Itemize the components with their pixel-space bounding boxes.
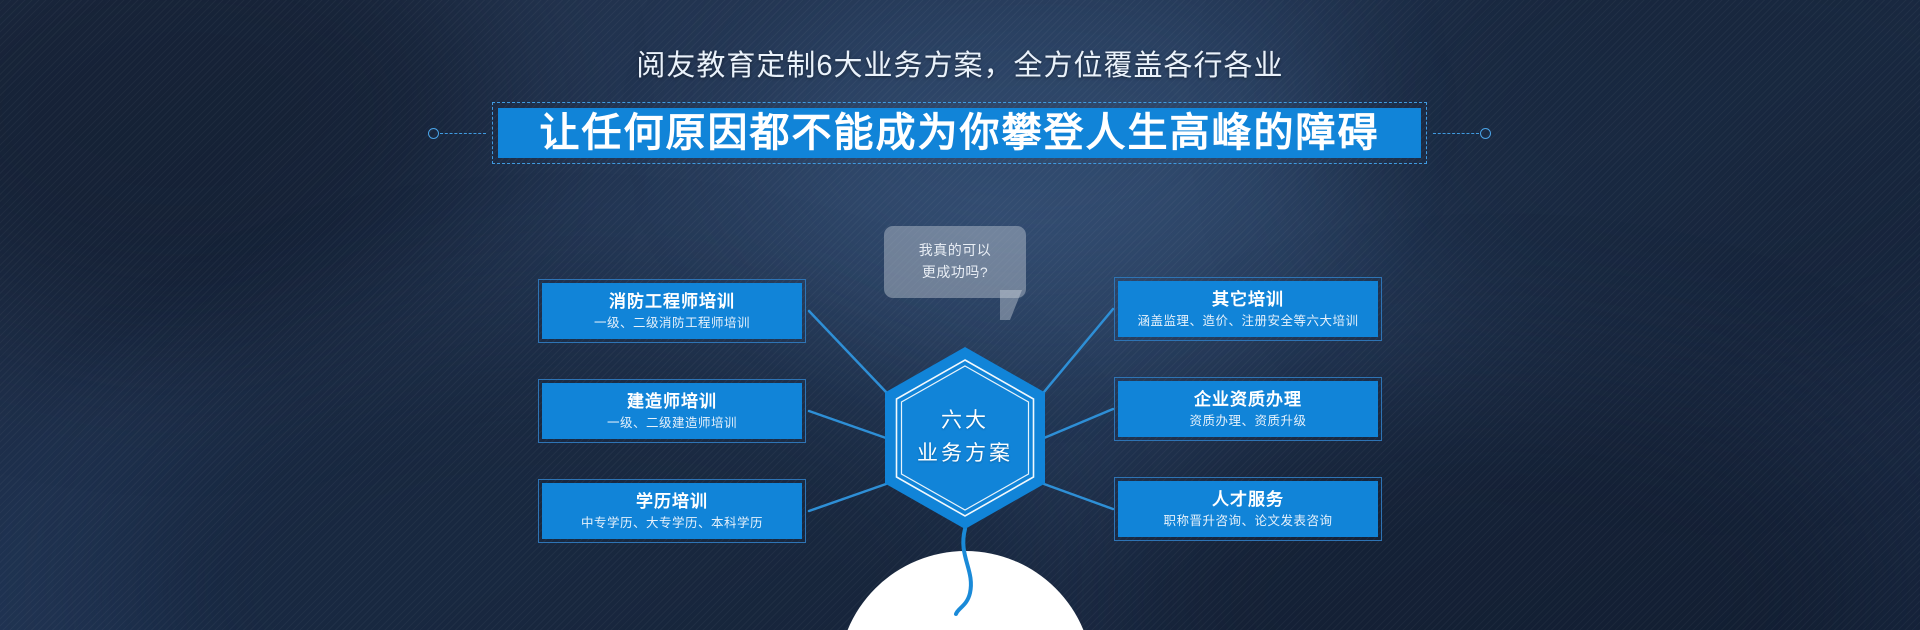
- card-title: 企业资质办理: [1194, 389, 1302, 410]
- card-title: 学历培训: [636, 491, 708, 512]
- speech-bubble-tail-icon: [1000, 290, 1022, 320]
- card-inner: 人才服务 职称晋升咨询、论文发表咨询: [1118, 481, 1378, 537]
- card-subtitle: 涵盖监理、造价、注册安全等六大培训: [1137, 313, 1358, 329]
- circle-marker-icon: [1480, 128, 1491, 139]
- card-inner: 企业资质办理 资质办理、资质升级: [1118, 381, 1378, 437]
- circle-icon: [838, 551, 1093, 630]
- card-inner: 其它培训 涵盖监理、造价、注册安全等六大培训: [1118, 281, 1378, 337]
- page-title: 让任何原因都不能成为你攀登人生高峰的障碍: [540, 113, 1380, 153]
- card-subtitle: 中专学历、大专学历、本科学历: [581, 515, 763, 531]
- speech-bubble-icon: 我真的可以 更成功吗?: [884, 226, 1026, 298]
- hexagon-label-line2: 业务方案: [917, 438, 1013, 471]
- card-subtitle: 一级、二级消防工程师培训: [594, 315, 750, 331]
- service-card-talent-service[interactable]: 人才服务 职称晋升咨询、论文发表咨询: [1114, 477, 1382, 541]
- diagonal-stripe-overlay: [0, 0, 1920, 630]
- bubble-line-1: 我真的可以: [919, 240, 992, 262]
- banner-stage: 阅友教育定制6大业务方案，全方位覆盖各行各业 让任何原因都不能成为你攀登人生高峰…: [0, 0, 1920, 630]
- service-card-academic[interactable]: 学历培训 中专学历、大专学历、本科学历: [538, 479, 806, 543]
- service-card-fire-engineer[interactable]: 消防工程师培训 一级、二级消防工程师培训: [538, 279, 806, 343]
- card-subtitle: 一级、二级建造师培训: [607, 415, 737, 431]
- card-subtitle: 职称晋升咨询、论文发表咨询: [1163, 513, 1332, 529]
- card-title: 其它培训: [1212, 289, 1284, 310]
- headline-tick-left: [440, 133, 486, 134]
- headline-banner: 让任何原因都不能成为你攀登人生高峰的障碍: [492, 102, 1427, 164]
- bubble-line-2: 更成功吗?: [922, 262, 988, 284]
- headline-tick-right: [1433, 133, 1479, 134]
- card-title: 人才服务: [1212, 489, 1284, 510]
- service-card-constructor[interactable]: 建造师培训 一级、二级建造师培训: [538, 379, 806, 443]
- card-subtitle: 资质办理、资质升级: [1189, 413, 1306, 429]
- hexagon-label: 六大 业务方案: [885, 347, 1045, 529]
- card-inner: 消防工程师培训 一级、二级消防工程师培训: [542, 283, 802, 339]
- card-inner: 学历培训 中专学历、大专学历、本科学历: [542, 483, 802, 539]
- hexagon-label-line1: 六大: [941, 405, 989, 438]
- connector-lines: [0, 0, 1920, 630]
- service-card-other-training[interactable]: 其它培训 涵盖监理、造价、注册安全等六大培训: [1114, 277, 1382, 341]
- card-title: 建造师培训: [627, 391, 717, 412]
- card-title: 消防工程师培训: [609, 291, 735, 312]
- headline-fill: 让任何原因都不能成为你攀登人生高峰的障碍: [498, 108, 1421, 158]
- card-inner: 建造师培训 一级、二级建造师培训: [542, 383, 802, 439]
- service-card-enterprise-qualification[interactable]: 企业资质办理 资质办理、资质升级: [1114, 377, 1382, 441]
- page-subheading: 阅友教育定制6大业务方案，全方位覆盖各行各业: [0, 42, 1920, 84]
- hexagon-icon: 六大 业务方案: [885, 347, 1045, 529]
- circle-marker-icon: [428, 128, 439, 139]
